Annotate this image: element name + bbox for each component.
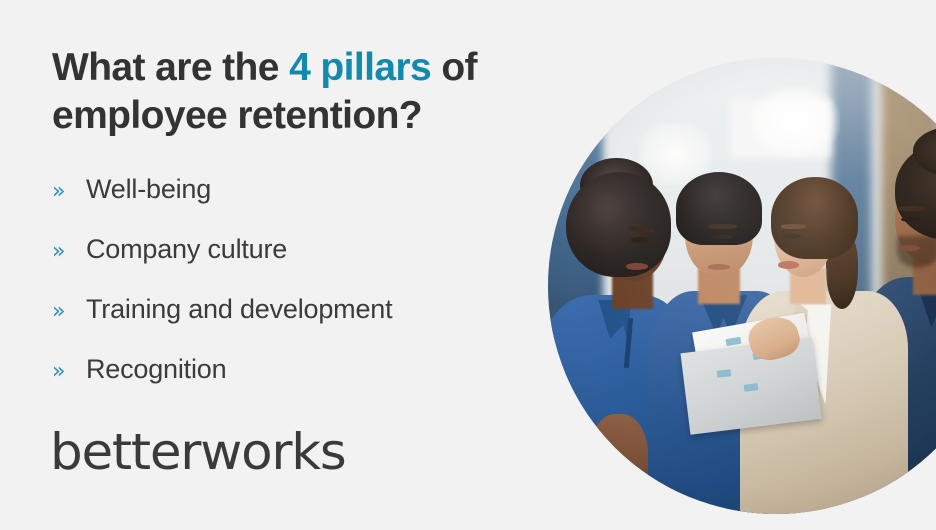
double-chevron-icon: »	[52, 241, 86, 263]
person-4-beard	[897, 236, 936, 268]
headline-part-1: What are the	[52, 46, 289, 89]
pillar-label: Well-being	[86, 174, 211, 205]
person-4-lips	[899, 245, 920, 251]
headline-accent: 4 pillars	[289, 46, 431, 89]
list-item: » Well-being	[52, 174, 552, 234]
person-1-arm	[589, 414, 648, 505]
double-chevron-icon: »	[52, 181, 86, 203]
list-item: » Company culture	[52, 234, 552, 294]
pillar-label: Company culture	[86, 234, 287, 265]
hero-photo-circle	[548, 58, 936, 514]
person-3-brow	[781, 224, 806, 229]
person-2-lips	[708, 264, 731, 269]
person-1-eye	[631, 237, 649, 242]
list-item: » Recognition	[52, 354, 552, 414]
content-column: What are the 4 pillars of employee reten…	[52, 44, 552, 414]
double-chevron-icon: »	[52, 361, 86, 383]
photo-illustration	[548, 58, 936, 514]
list-item: » Training and development	[52, 294, 552, 354]
person-4-eye	[901, 217, 920, 222]
slide-canvas: What are the 4 pillars of employee reten…	[0, 0, 936, 530]
person-2-brow	[708, 224, 738, 229]
person-3-hair	[771, 177, 858, 259]
person-3-lips	[778, 261, 799, 268]
pillar-label: Training and development	[86, 294, 392, 325]
betterworks-logo: betterworks	[50, 424, 337, 480]
person-4-brow	[899, 206, 926, 211]
person-3-eye	[783, 234, 801, 239]
person-1-lips	[626, 263, 649, 269]
logo-wordmark: betterworks	[50, 424, 345, 480]
photo-ceiling-light-a	[749, 85, 840, 158]
person-2-eye	[712, 234, 733, 239]
person-1-hair	[566, 172, 671, 277]
pillar-list: » Well-being » Company culture » Trainin…	[52, 174, 552, 414]
pillar-label: Recognition	[86, 354, 226, 385]
double-chevron-icon: »	[52, 301, 86, 323]
page-title: What are the 4 pillars of employee reten…	[52, 44, 552, 140]
